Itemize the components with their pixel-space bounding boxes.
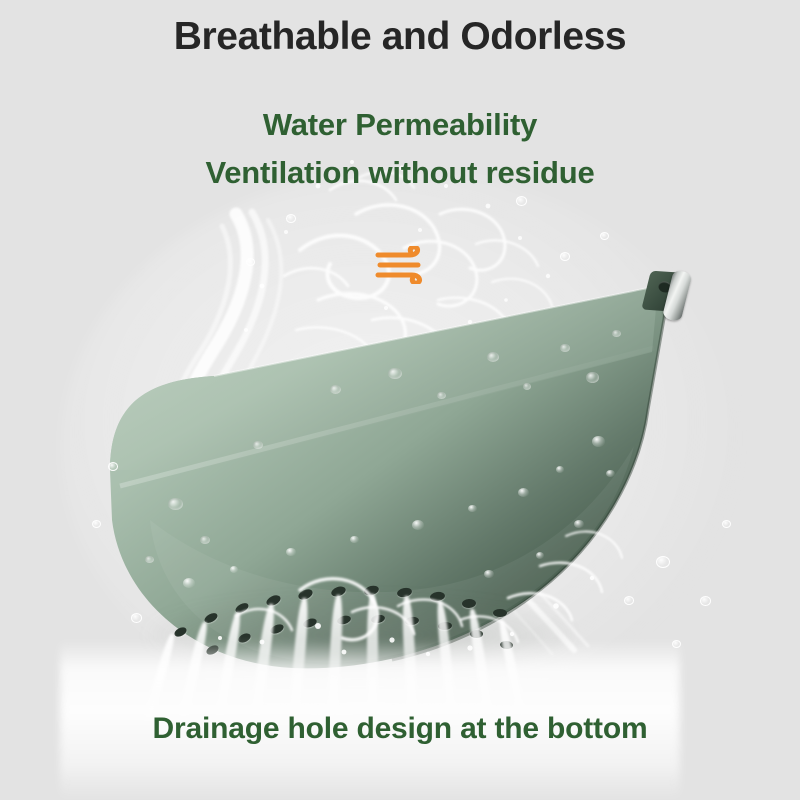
product-marketing-image: Breathable and Odorless Water Permeabili… — [0, 0, 800, 800]
subheading-line-1: Water Permeability — [0, 108, 800, 142]
page-title: Breathable and Odorless — [0, 16, 800, 59]
wind-icon — [374, 246, 430, 284]
footer-caption: Drainage hole design at the bottom — [0, 712, 800, 746]
subheading-line-2: Ventilation without residue — [0, 156, 800, 190]
